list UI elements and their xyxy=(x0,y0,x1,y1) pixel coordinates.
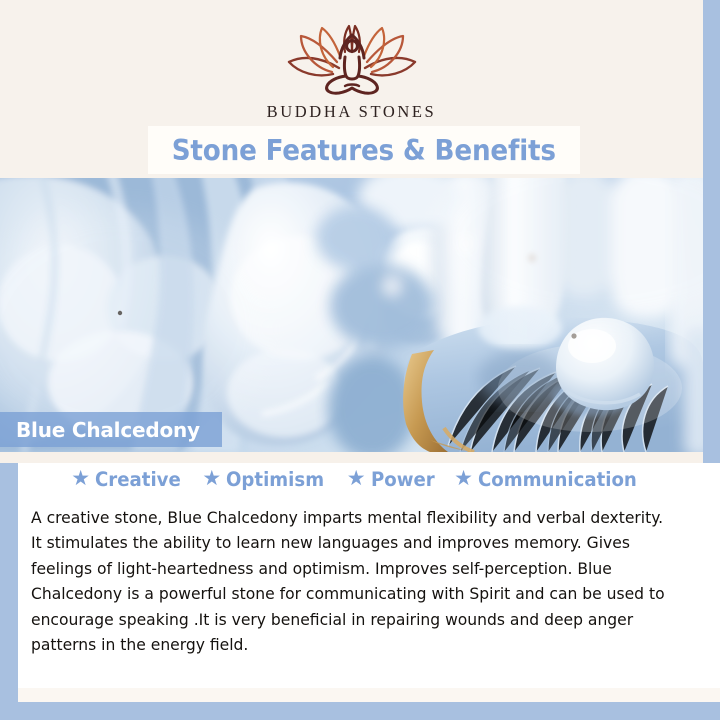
keyword-item-power: ★ Power xyxy=(347,468,439,491)
keyword-item-creative: ★ Creative xyxy=(71,468,187,491)
star-icon: ★ xyxy=(347,468,366,489)
page-title: Stone Features & Benefits xyxy=(172,134,556,167)
keyword-item-communication: ★ Communication xyxy=(454,468,649,491)
stone-photo-illustration xyxy=(0,178,703,452)
keyword-label: Communication xyxy=(478,468,637,491)
keyword-list: ★ Creative ★ Optimism ★ Power ★ Communic… xyxy=(18,468,702,491)
brand-name: BUDDHA STONES xyxy=(0,102,703,122)
bottom-strip xyxy=(18,688,720,702)
title-banner: Stone Features & Benefits xyxy=(148,126,580,174)
stone-photo: Blue Chalcedony xyxy=(0,178,703,452)
keyword-label: Optimism xyxy=(226,468,324,491)
star-icon: ★ xyxy=(71,468,90,489)
brand-logo-block: BUDDHA STONES xyxy=(0,24,703,122)
section-divider xyxy=(0,452,703,463)
description-paragraph: A creative stone, Blue Chalcedony impart… xyxy=(31,505,666,657)
star-icon: ★ xyxy=(202,468,221,489)
stone-name-label: Blue Chalcedony xyxy=(16,418,200,442)
stone-name-band: Blue Chalcedony xyxy=(0,412,222,447)
product-info-card: BUDDHA STONES Stone Features & Benefits xyxy=(0,0,720,720)
keyword-item-optimism: ★ Optimism xyxy=(202,468,331,491)
keyword-label: Power xyxy=(371,468,435,491)
keyword-label: Creative xyxy=(95,468,181,491)
content-area: ★ Creative ★ Optimism ★ Power ★ Communic… xyxy=(18,463,720,688)
star-icon: ★ xyxy=(454,468,473,489)
lotus-meditation-icon xyxy=(277,24,427,98)
